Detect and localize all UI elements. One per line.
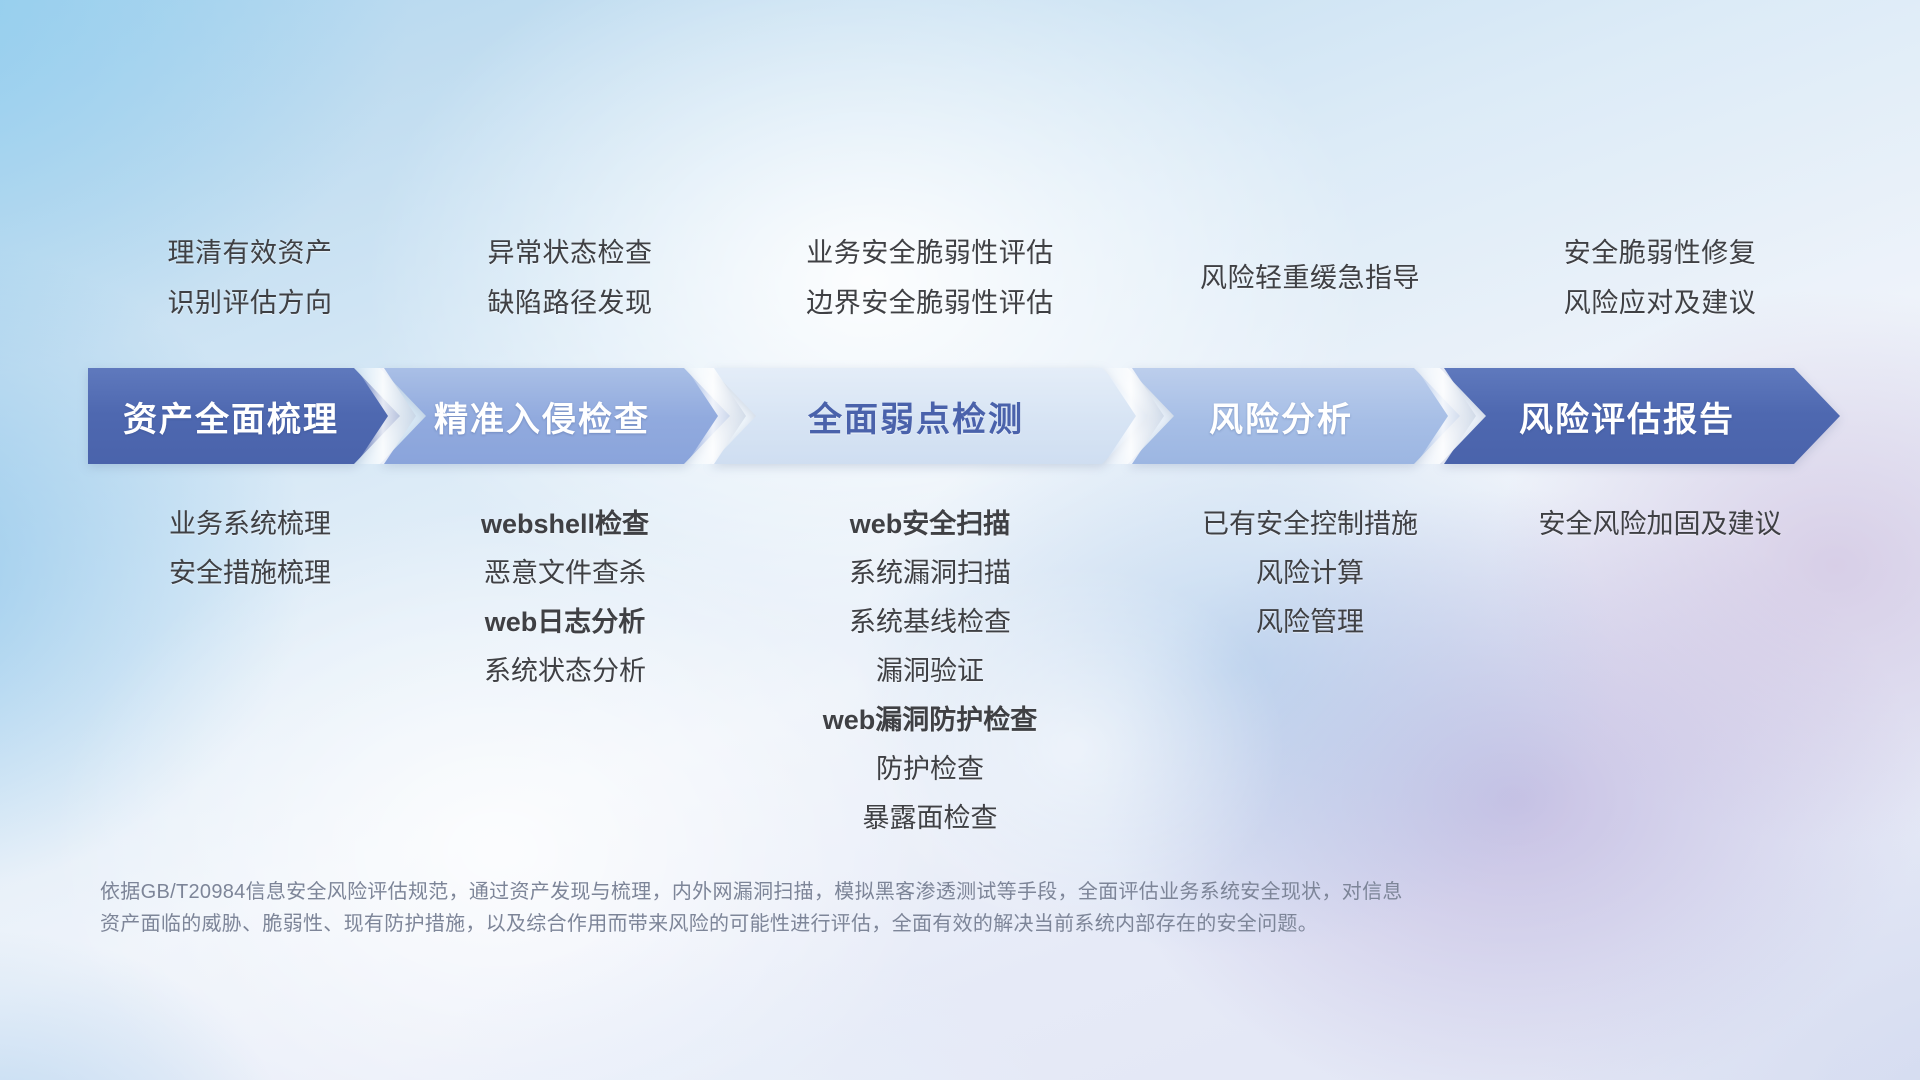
stage-title: 风险分析	[1209, 392, 1353, 441]
list-item: web漏洞防护检查	[710, 696, 1150, 745]
stage-chevron-weakness-detection[interactable]: 全面弱点检测	[710, 368, 1148, 464]
top-caption: 风险应对及建议	[1440, 278, 1880, 328]
stage-title: 风险评估报告	[1519, 392, 1735, 441]
stage-chevron-intrusion-check[interactable]: 精准入侵检查	[380, 368, 730, 464]
stage-chevron-risk-analysis[interactable]: 风险分析	[1128, 368, 1460, 464]
footer-line: 依据GB/T20984信息安全风险评估规范，通过资产发现与梳理，内外网漏洞扫描，…	[100, 876, 1660, 908]
stage-chevron-band: 资产全面梳理 精准入侵检查 全面弱点检测 风险分析 风险评估报告	[0, 368, 1920, 472]
list-item: web安全扫描	[710, 500, 1150, 549]
list-item: 系统漏洞扫描	[710, 549, 1150, 598]
stage-title: 全面弱点检测	[808, 392, 1024, 441]
top-captions-row: 理清有效资产 识别评估方向 异常状态检查 缺陷路径发现 业务安全脆弱性评估 边界…	[0, 228, 1920, 348]
list-item: 暴露面检查	[710, 794, 1150, 843]
list-item: 漏洞验证	[710, 647, 1150, 696]
stage-chevron-risk-report[interactable]: 风险评估报告	[1440, 368, 1840, 464]
list-item: 防护检查	[710, 745, 1150, 794]
stage-chevron-asset-inventory[interactable]: 资产全面梳理	[88, 368, 400, 464]
stage-title: 资产全面梳理	[123, 392, 339, 441]
list-item: 安全风险加固及建议	[1430, 500, 1890, 549]
footer-description: 依据GB/T20984信息安全风险评估规范，通过资产发现与梳理，内外网漏洞扫描，…	[100, 876, 1660, 940]
footer-line: 资产面临的威胁、脆弱性、现有防护措施，以及综合作用而带来风险的可能性进行评估，全…	[100, 908, 1660, 940]
top-captions-risk-report: 安全脆弱性修复 风险应对及建议	[1440, 228, 1880, 328]
list-item: 风险管理	[1090, 598, 1530, 647]
top-caption: 安全脆弱性修复	[1440, 228, 1880, 278]
stage-title: 精准入侵检查	[434, 392, 650, 441]
bottom-list-risk-report: 安全风险加固及建议	[1430, 500, 1890, 549]
bottom-list-weakness-detection: web安全扫描 系统漏洞扫描 系统基线检查 漏洞验证 web漏洞防护检查 防护检…	[710, 500, 1150, 843]
process-diagram: 理清有效资产 识别评估方向 异常状态检查 缺陷路径发现 业务安全脆弱性评估 边界…	[0, 0, 1920, 1080]
list-item: 系统基线检查	[710, 598, 1150, 647]
list-item: 风险计算	[1090, 549, 1530, 598]
